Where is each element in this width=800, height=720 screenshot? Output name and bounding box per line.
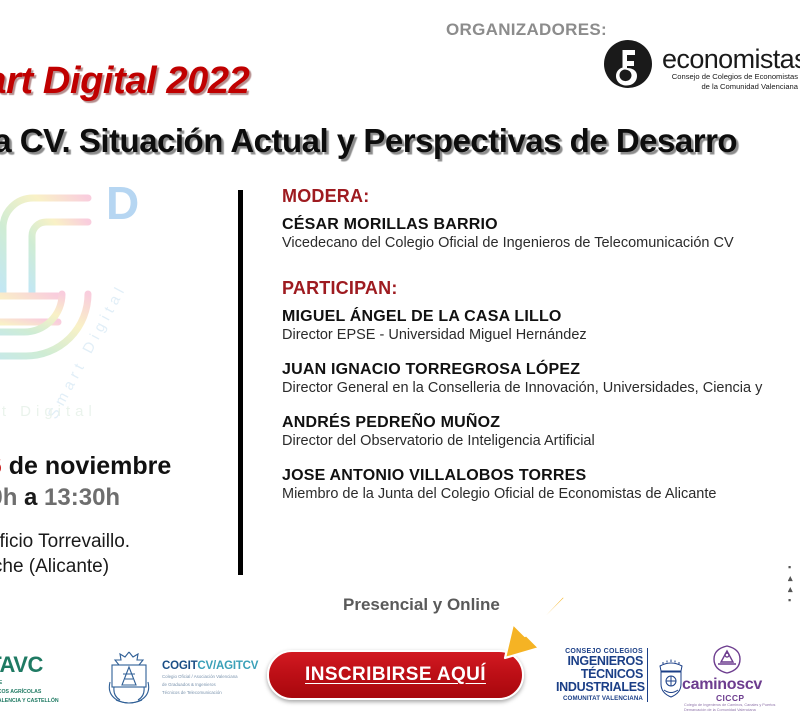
- participant-entry: MIGUEL ÁNGEL DE LA CASA LILLO Director E…: [282, 308, 800, 343]
- logo-cogitcv-agitcv: COGITCV/AGITCV Colegio Oficial / Asociac…: [100, 636, 250, 720]
- cogitcv-subline-3: Técnicos de Telecomunicación: [162, 690, 258, 696]
- cogitcv-crest-svg: [100, 648, 158, 706]
- cogitcv-word-a: COGIT: [162, 660, 197, 672]
- participant-role: Director General en la Conselleria de In…: [282, 380, 800, 396]
- cogitcv-subline-2: de Graduados & Ingenieros: [162, 682, 258, 688]
- logo-caminoscv: caminoscv CICCP Colegio de Ingenieros de…: [680, 636, 800, 720]
- citi-text-block: CONSEJO COLEGIOS INGENIEROS TÉCNICOS IND…: [556, 648, 648, 702]
- edge-clipped-char: ▴: [788, 573, 800, 584]
- oitavc-subline-3: UADOS DE VALENCIA Y CASTELLÓN: [0, 698, 96, 705]
- caminoscv-mark-svg: [710, 644, 744, 674]
- citi-line-4: COMUNITAT VALENCIANA: [556, 695, 643, 702]
- caminoscv-mark-icon: [710, 644, 744, 674]
- participant-name: MIGUEL ÁNGEL DE LA CASA LILLO: [282, 308, 800, 326]
- svg-text:Smart Digital: Smart Digital: [0, 403, 97, 420]
- participant-entry: JOSE ANTONIO VILLALOBOS TORRES Miembro d…: [282, 467, 800, 502]
- vertical-divider: [238, 190, 243, 575]
- participants-heading: PARTICIPAN:: [282, 278, 800, 299]
- logo-oitavc: OITAVC IO OFICIAL DE EROS TÉCNICOS AGRÍC…: [0, 636, 96, 720]
- smart-digital-watermark-icon: Smart Digital Smart Digital: [0, 176, 168, 426]
- caminoscv-wordmark: caminoscv: [682, 676, 762, 694]
- event-time-separator: a: [17, 484, 44, 511]
- event-venue-line2: Elche (Alicante): [0, 556, 109, 578]
- oitavc-subline-1: IO OFICIAL DE: [0, 680, 96, 687]
- participant-name: JOSE ANTONIO VILLALOBOS TORRES: [282, 467, 800, 485]
- participant-role: Director EPSE - Universidad Miguel Herná…: [282, 327, 800, 343]
- sponsor-logos-row: OITAVC IO OFICIAL DE EROS TÉCNICOS AGRÍC…: [0, 636, 800, 720]
- poster-title-secondary: a la CV. Situación Actual y Perspectivas…: [0, 122, 737, 160]
- event-date: 16 de noviembre: [0, 452, 171, 481]
- economistas-logo-svg: economistas Consejo de Colegios de Econo…: [600, 38, 800, 94]
- smart-digital-glyph: Smart Digital Smart Digital: [0, 176, 168, 426]
- poster-title-primary: mart Digital 2022: [0, 60, 249, 103]
- cogitcv-subline-1: Colegio Oficial / Asociación Valenciana: [162, 674, 258, 680]
- participant-entry: ANDRÉS PEDREÑO MUÑOZ Director del Observ…: [282, 414, 800, 449]
- edge-clipped-char: ▪: [788, 595, 800, 602]
- caminoscv-tagline-2: Demarcación de la Comunidad Valenciana: [684, 708, 756, 713]
- moderator-name: CÉSAR MORILLAS BARRIO: [282, 216, 800, 234]
- cogitcv-text-block: COGITCV/AGITCV Colegio Oficial / Asociac…: [162, 660, 258, 696]
- cogitcv-word-b: CV/AGITCV: [197, 660, 258, 672]
- caminoscv-subword: CICCP: [716, 693, 744, 703]
- edge-clipped-char: ▴: [788, 584, 800, 595]
- moderator-role: Vicedecano del Colegio Oficial de Ingeni…: [282, 235, 800, 251]
- participant-name: ANDRÉS PEDREÑO MUÑOZ: [282, 414, 800, 432]
- section-gap: [282, 269, 800, 278]
- event-poster: ORGANIZADORES: economistas Consejo de Co…: [0, 0, 800, 720]
- smart-digital-d-letter: D: [106, 180, 139, 226]
- economistas-logo: economistas Consejo de Colegios de Econo…: [600, 38, 800, 94]
- event-time: 30h a 13:30h: [0, 484, 120, 512]
- event-date-month: de noviembre: [2, 452, 172, 480]
- participant-name: JUAN IGNACIO TORREGROSA LÓPEZ: [282, 361, 800, 379]
- svg-text:de la Comunidad Valenciana: de la Comunidad Valenciana: [701, 82, 798, 91]
- event-time-start: 30h: [0, 484, 17, 511]
- cogitcv-crest-icon: [100, 648, 158, 706]
- moderator-entry: CÉSAR MORILLAS BARRIO Vicedecano del Col…: [282, 216, 800, 251]
- oitavc-subline-2: EROS TÉCNICOS AGRÍCOLAS: [0, 689, 96, 696]
- participant-role: Miembro de la Junta del Colegio Oficial …: [282, 486, 800, 502]
- citi-line-3: INDUSTRIALES: [556, 681, 643, 694]
- edge-clipped-text: ▪ ▴ ▴ ▪: [788, 562, 800, 602]
- edge-clipped-char: ▪: [788, 562, 800, 573]
- event-venue-line1: Edificio Torrevaillo.: [0, 531, 130, 553]
- organizadores-label: ORGANIZADORES:: [446, 20, 607, 40]
- svg-text:economistas: economistas: [662, 44, 800, 74]
- program-panel: MODERA: CÉSAR MORILLAS BARRIO Vicedecano…: [282, 186, 800, 520]
- event-time-end: 13:30h: [44, 484, 120, 511]
- moderator-heading: MODERA:: [282, 186, 800, 207]
- participant-entry: JUAN IGNACIO TORREGROSA LÓPEZ Director G…: [282, 361, 800, 396]
- oitavc-wordmark: OITAVC: [0, 652, 96, 678]
- participant-role: Director del Observatorio de Inteligenci…: [282, 433, 800, 449]
- svg-text:Consejo de Colegios de Economi: Consejo de Colegios de Economistas: [672, 72, 798, 81]
- cogitcv-wordmark: COGITCV/AGITCV: [162, 660, 258, 672]
- attendance-mode-label: Presencial y Online: [343, 595, 500, 615]
